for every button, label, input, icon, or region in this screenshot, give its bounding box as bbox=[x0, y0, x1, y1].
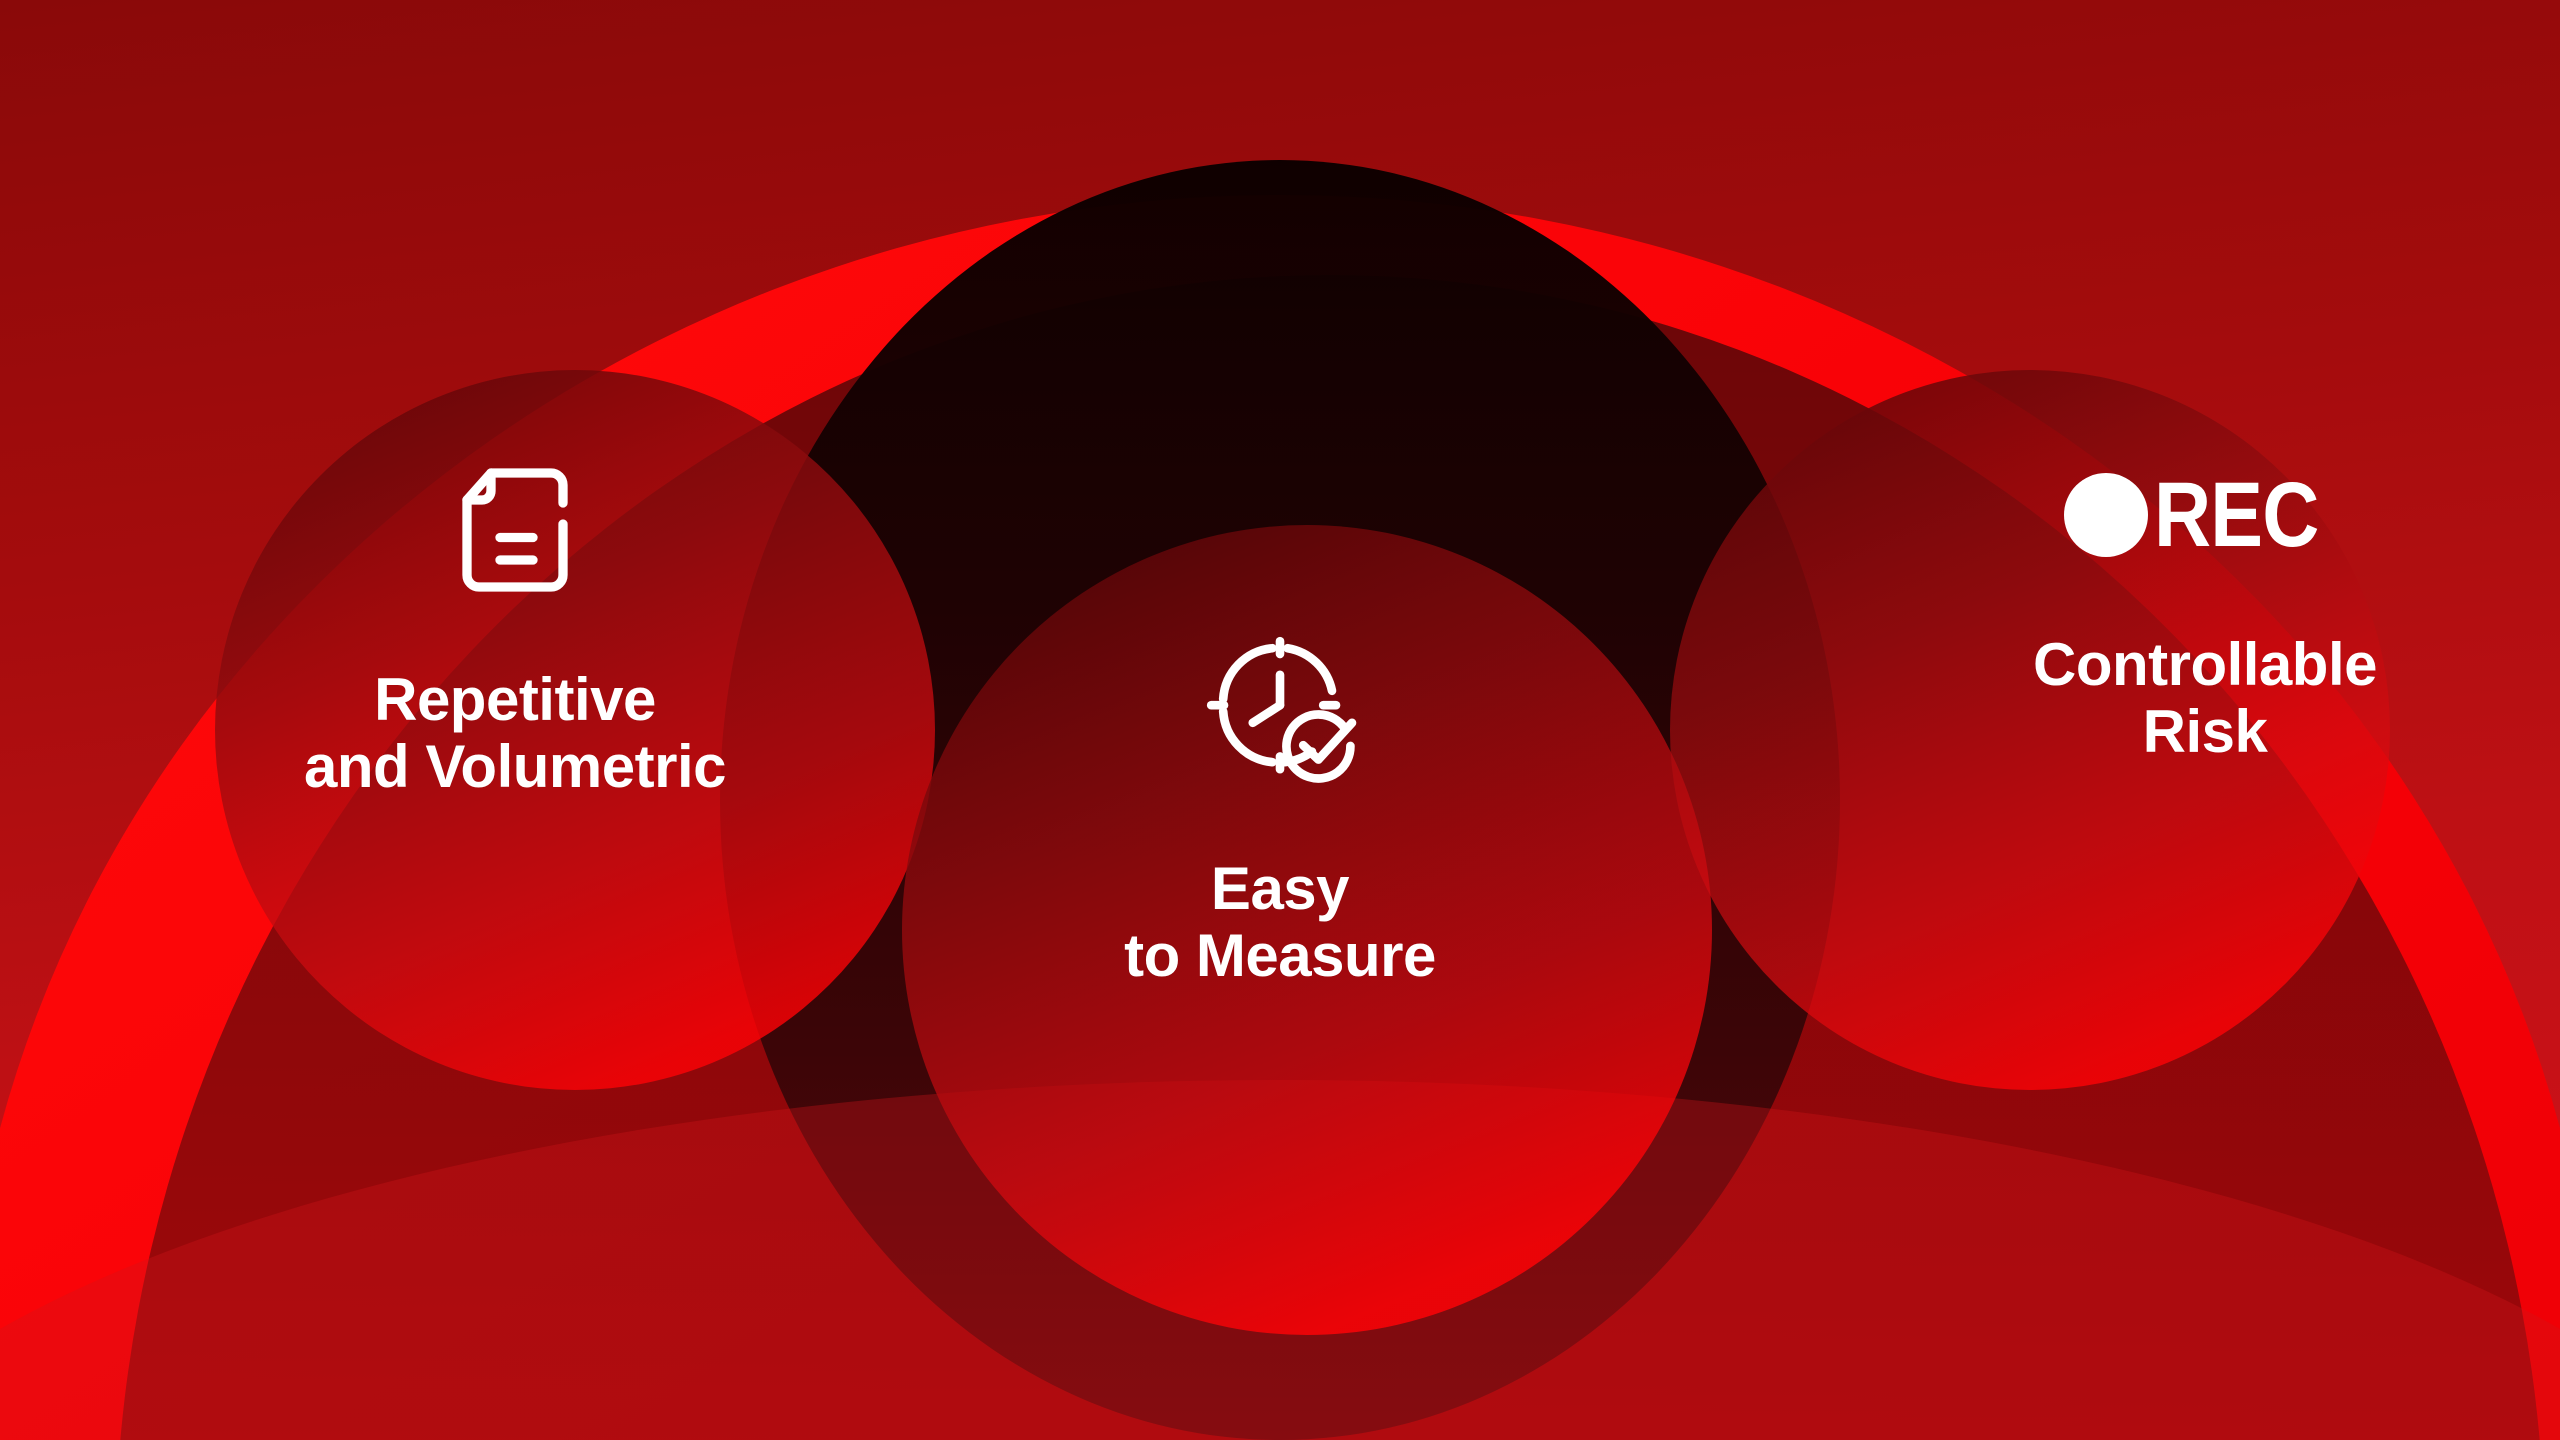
feature-label-controllable: Controllable Risk bbox=[2033, 631, 2377, 765]
document-lines-icon bbox=[440, 455, 590, 610]
clock-check-icon bbox=[1200, 630, 1360, 795]
rec-label: REC bbox=[2154, 469, 2318, 561]
feature-card-easy[interactable]: Easy to Measure bbox=[930, 630, 1630, 989]
feature-label-repetitive: Repetitive and Volumetric bbox=[304, 666, 726, 800]
feature-card-controllable[interactable]: REC Controllable Risk bbox=[1855, 455, 2555, 765]
record-dot-icon bbox=[2064, 473, 2148, 557]
infographic-canvas: Repetitive and Volumetric bbox=[0, 0, 2560, 1440]
feature-card-repetitive[interactable]: Repetitive and Volumetric bbox=[175, 455, 855, 800]
rec-badge-icon: REC bbox=[2064, 455, 2345, 575]
feature-label-easy: Easy to Measure bbox=[1124, 855, 1436, 989]
